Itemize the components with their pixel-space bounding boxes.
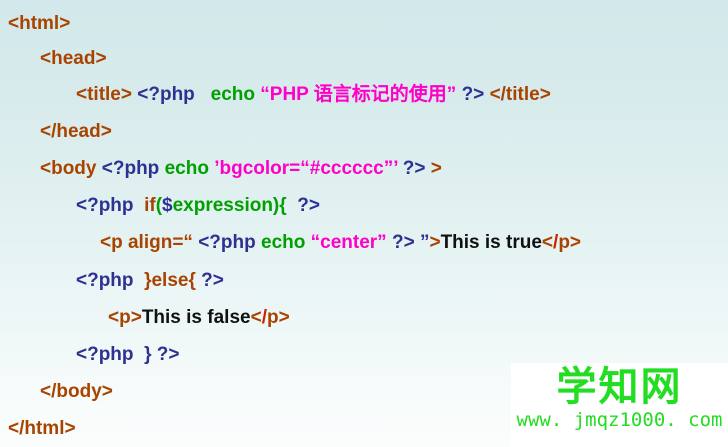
watermark: 学知网 www. jmqz1000. com [511,363,728,447]
watermark-site-name: 学知网 [511,365,728,409]
code-token: ?> [157,344,180,365]
code-token [134,270,145,291]
code-token: This is true [441,232,542,253]
code-token: > [431,158,442,179]
code-token: <title> [76,84,132,105]
code-token: <?php [76,195,134,216]
code-token: </head> [40,121,112,142]
code-token: <head> [40,48,107,69]
code-token: ’bgcolor=“#cccccc”’ [214,158,397,179]
code-line: <head> [0,49,728,69]
code-token: $ [162,195,173,216]
code-token: echo [261,232,305,253]
code-token: </body> [40,381,113,402]
code-line: <p align=“ <?php echo “center” ?> ”>This… [0,233,728,253]
code-line: <?php } ?> [0,345,728,365]
code-token: <?php [76,270,134,291]
code-token: ?> [392,232,415,253]
code-token: ?> [462,84,485,105]
watermark-url: www. jmqz1000. com [511,409,728,431]
code-token: expression){ [173,195,287,216]
code-token: <html> [8,13,70,34]
code-token [287,195,298,216]
code-line: <title> <?php echo “PHP 语言标记的使用” ?> </ti… [0,85,728,105]
code-line: <html> [0,14,728,34]
code-token: <body [40,158,96,179]
code-token: < [251,307,262,328]
code-token: </html> [8,418,76,439]
code-line: <?php if($expression){ ?> [0,196,728,216]
code-line: <?php }else{ ?> [0,271,728,291]
code-token [195,84,211,105]
code-token: </title> [490,84,551,105]
code-token: echo [211,84,255,105]
code-token: ?> [201,270,224,291]
code-line: <p>This is false</p> [0,308,728,328]
code-token: <?php [102,158,160,179]
code-token: <?php [198,232,256,253]
code-listing-canvas: <html><head><title> <?php echo “PHP 语言标记… [0,0,728,447]
code-token: <?php [137,84,195,105]
code-token: } [144,344,151,365]
code-token: <p> [108,307,142,328]
code-token: “PHP 语言标记的使用” [260,84,456,105]
code-token [134,344,145,365]
code-line: <body <?php echo ’bgcolor=“#cccccc”’ ?> … [0,159,728,179]
code-token: <p align=“ [100,232,193,253]
code-token: echo [165,158,209,179]
code-token: > [429,232,440,253]
code-token: if [144,195,156,216]
code-token: This is false [142,307,251,328]
code-token: “center” [311,232,387,253]
code-token: p> [267,307,290,328]
code-token: ?> [297,195,320,216]
code-token [134,195,145,216]
code-token: < [542,232,553,253]
code-token: <?php [76,344,134,365]
code-token: p> [558,232,581,253]
code-line: </head> [0,122,728,142]
code-token: ?> [403,158,426,179]
code-token: }else{ [144,270,196,291]
